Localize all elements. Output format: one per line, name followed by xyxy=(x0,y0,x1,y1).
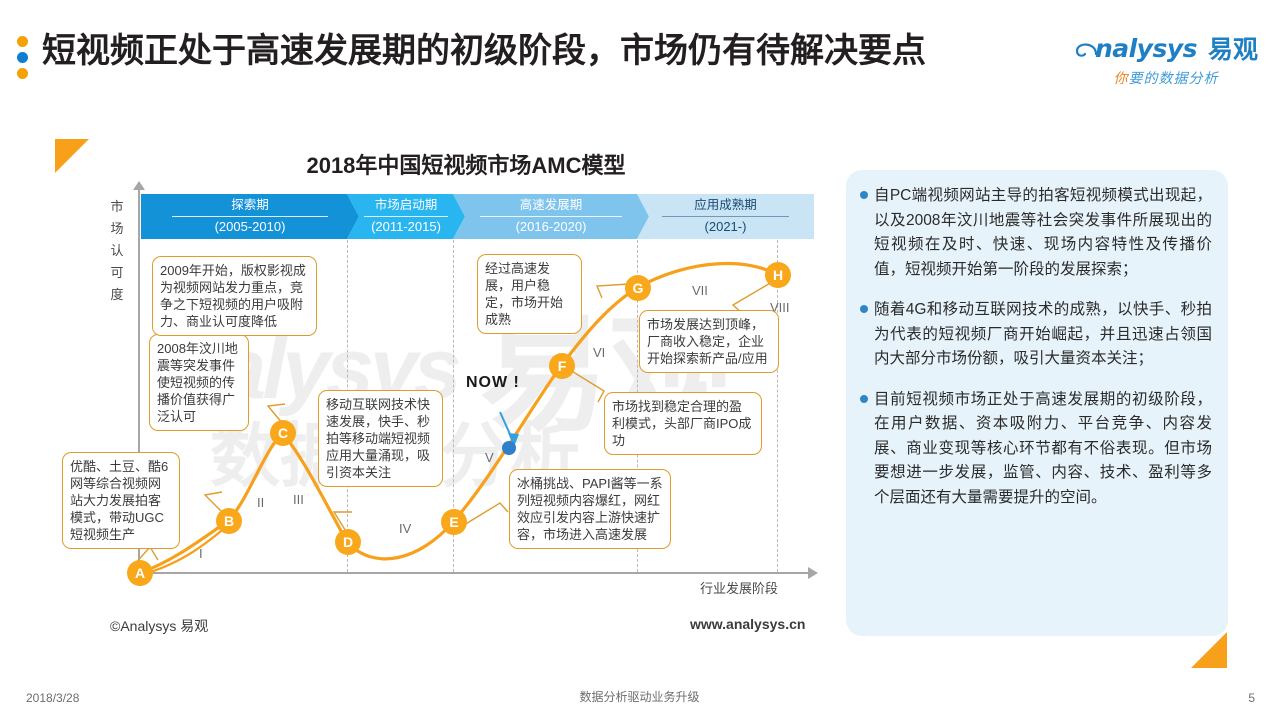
callout-D: 移动互联网技术快速发展，快手、秒拍等移动端短视频应用大量涌现，吸引资本关注 xyxy=(318,390,443,487)
chart-copyright: ©Analysys 易观 xyxy=(110,616,208,636)
curve-node-H: H xyxy=(765,262,791,288)
curve-node-A: A xyxy=(127,560,153,586)
insight-item: 自PC端视频网站主导的拍客短视频模式出现起，以及2008年汶川地震等社会突发事件… xyxy=(860,184,1212,282)
curve-node-E: E xyxy=(441,509,467,535)
insight-item: 随着4G和移动互联网技术的成熟，以快手、秒拍为代表的短视频厂商开始崛起，并且迅速… xyxy=(860,298,1212,372)
curve-node-G: G xyxy=(625,275,651,301)
callout-C: 2009年开始，版权影视成为视频网站发力重点，竞争之下短视频的用户吸附力、商业认… xyxy=(152,256,317,336)
footer-page-num: 5 xyxy=(1248,691,1255,705)
footer-center: 数据分析驱动业务升级 xyxy=(0,688,1279,705)
now-marker-dot xyxy=(502,441,516,455)
callout-E: 冰桶挑战、PAPI酱等一系列短视频内容爆红，网红效应引发内容上游快速扩容，市场进… xyxy=(509,469,671,549)
curve-node-C: C xyxy=(270,420,296,446)
callout-B: 2008年汶川地震等突发事件使短视频的传播价值获得广泛认可 xyxy=(149,334,249,431)
insight-text: 自PC端视频网站主导的拍客短视频模式出现起，以及2008年汶川地震等社会突发事件… xyxy=(874,184,1212,282)
decor-triangle-bottom-right xyxy=(1191,632,1227,668)
insight-text: 目前短视频市场正处于高速发展期的初级阶段，在用户数据、资本吸附力、平台竞争、内容… xyxy=(874,388,1212,511)
analysys-logo: nalysys 易观 你要的数据分析 xyxy=(1071,30,1261,88)
slide-root: 短视频正处于高速发展期的初级阶段，市场仍有待解决要点 nalysys 易观 你要… xyxy=(0,0,1279,719)
curve-node-F: F xyxy=(549,353,575,379)
callout-F: 市场找到稳定合理的盈利模式，头部厂商IPO成功 xyxy=(604,392,762,455)
bullet-icon xyxy=(860,395,874,511)
insight-item: 目前短视频市场正处于高速发展期的初级阶段，在用户数据、资本吸附力、平台竞争、内容… xyxy=(860,388,1212,511)
logo-arc-icon xyxy=(1074,36,1099,61)
curve-node-B: B xyxy=(216,508,242,534)
logo-wordmark: nalysys xyxy=(1095,34,1197,63)
callout-A: 优酷、土豆、酷6网等综合视频网站大力发展拍客模式，带动UGC短视频生产 xyxy=(62,452,180,549)
insight-text: 随着4G和移动互联网技术的成熟，以快手、秒拍为代表的短视频厂商开始崛起，并且迅速… xyxy=(874,298,1212,372)
logo-wordmark-cn: 易观 xyxy=(1208,30,1258,66)
logo-tagline: 你要的数据分析 xyxy=(1071,68,1261,88)
bullet-icon xyxy=(860,191,874,282)
chart-website: www.analysys.cn xyxy=(690,616,805,632)
callout-H: 市场发展达到顶峰，厂商收入稳定，企业开始探索新产品/应用 xyxy=(639,310,779,373)
now-marker-label: NOW ! xyxy=(466,374,520,392)
insights-panel: 自PC端视频网站主导的拍客短视频模式出现起，以及2008年汶川地震等社会突发事件… xyxy=(846,170,1228,636)
bullet-icon xyxy=(860,305,874,372)
curve-node-D: D xyxy=(335,529,361,555)
callout-G: 经过高速发展，用户稳定，市场开始成熟 xyxy=(477,254,582,334)
